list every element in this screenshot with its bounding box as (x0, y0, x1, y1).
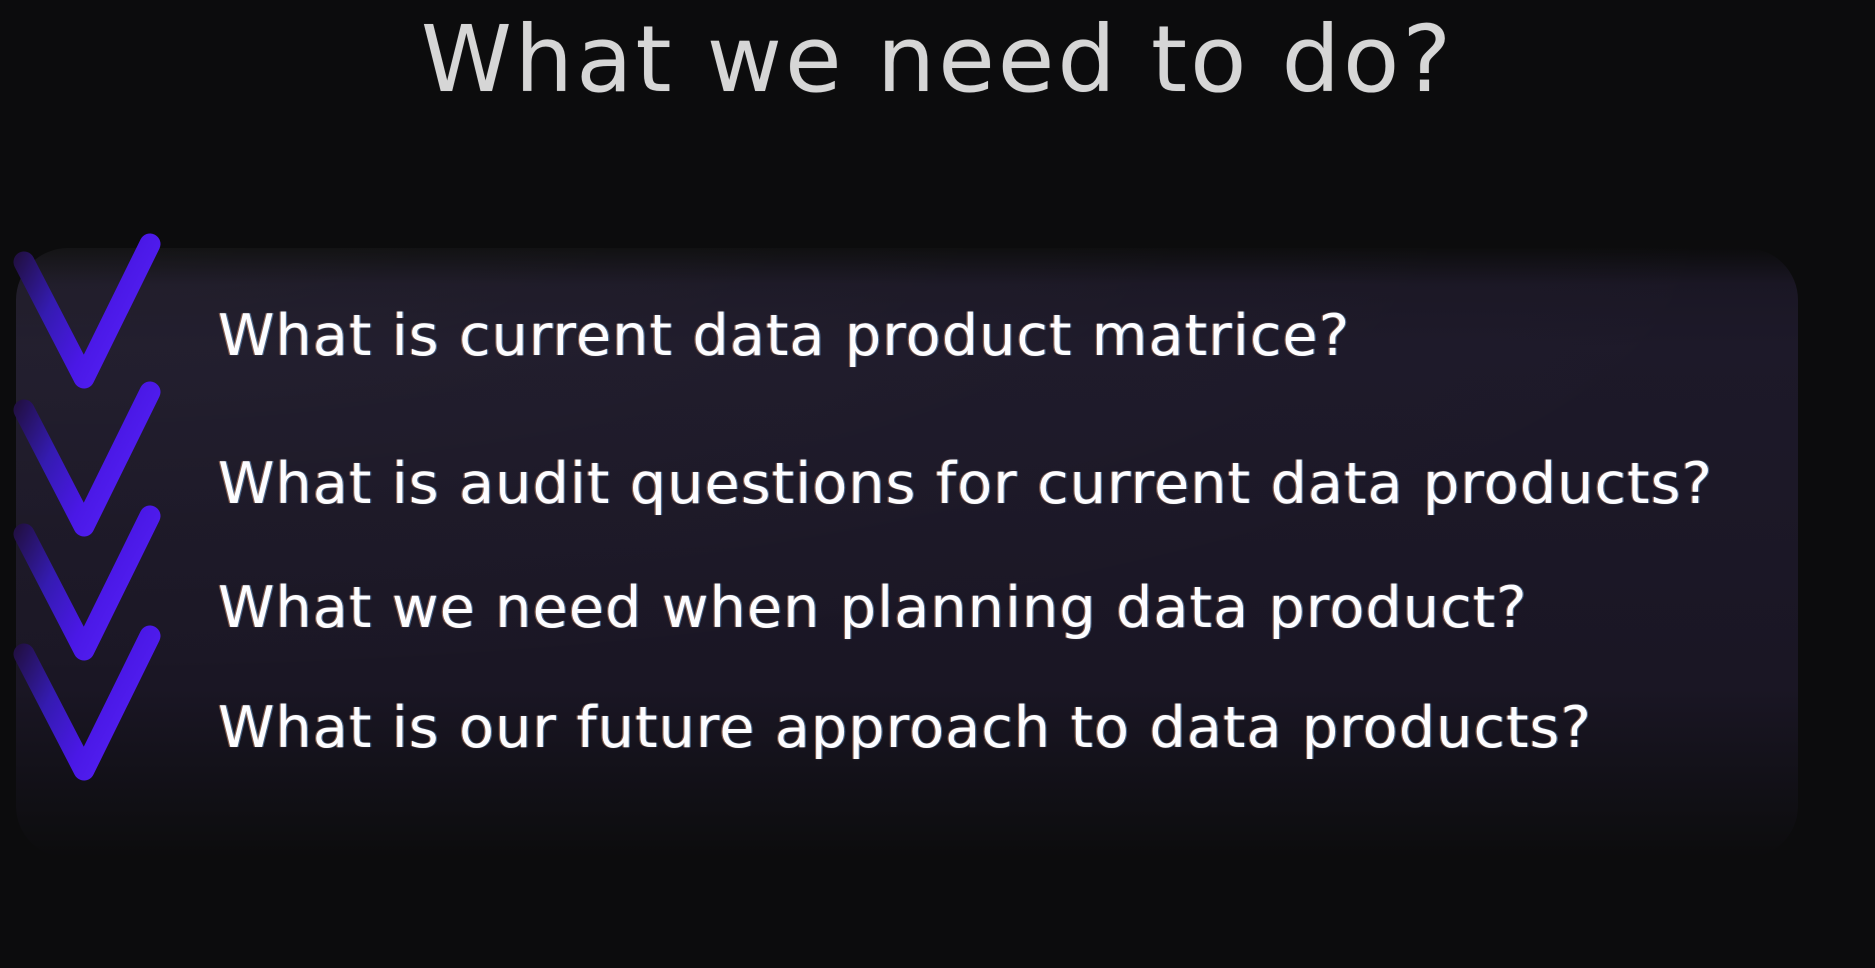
list-item-label: What is current data product matrice? (218, 262, 1350, 410)
list-item[interactable]: What is current data product matrice? (0, 262, 1875, 410)
checklist: What is current data product matrice? (0, 262, 1875, 862)
slide-title: What we need to do? (0, 6, 1875, 114)
check-icon (8, 626, 180, 802)
list-item[interactable]: What is our future approach to data prod… (0, 654, 1875, 802)
list-item-label: What is our future approach to data prod… (218, 654, 1592, 802)
presentation-slide: What we need to do? What is c (0, 0, 1875, 968)
